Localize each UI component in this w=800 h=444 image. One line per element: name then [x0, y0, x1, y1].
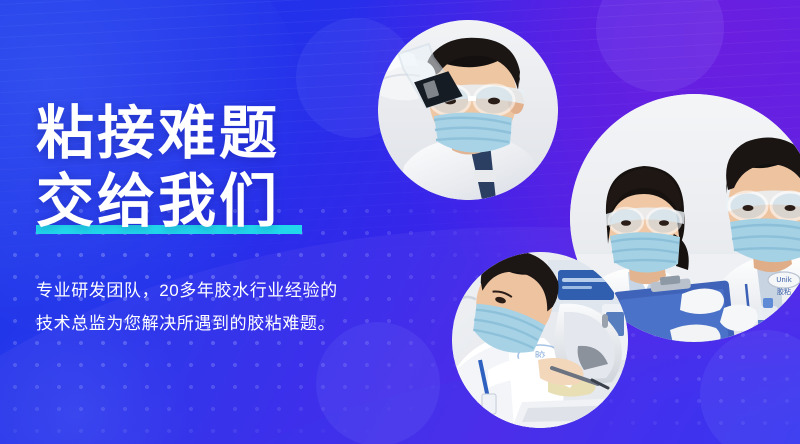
promo-banner: 粘接难题 交给我们 专业研发团队，20多年胶水行业经验的 技术总监为您解决所遇到…: [0, 0, 800, 444]
banner-clickthrough[interactable]: [0, 0, 800, 444]
